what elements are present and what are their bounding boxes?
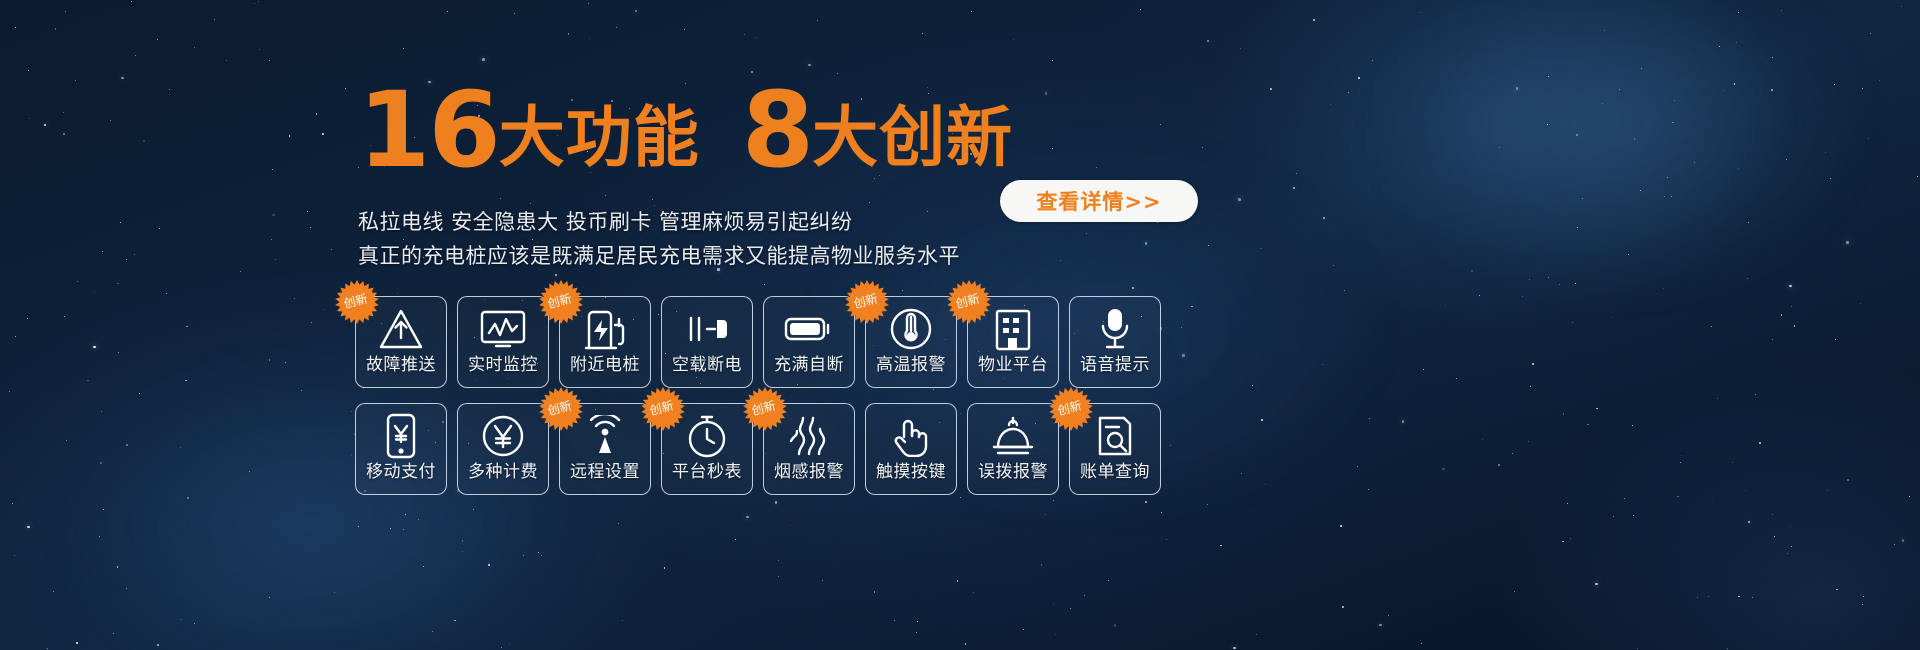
feature-tile-label: 故障推送 [366,357,436,374]
feature-tile-grid: 创新故障推送实时监控创新附近电桩空载断电充满自断创新高温报警创新物业平台语音提示… [355,296,1161,495]
feature-tile-label: 移动支付 [366,464,436,481]
yuan-coin-icon [458,408,548,464]
mobile-payment-icon [356,408,446,464]
innovation-badge: 创新 [538,279,584,325]
feature-tile[interactable]: 移动支付 [355,403,447,495]
feature-tile-label: 附近电桩 [570,357,640,374]
feature-tile[interactable]: 多种计费 [457,403,549,495]
innovation-badge: 创新 [334,279,380,325]
feature-tile-label: 误拨报警 [978,464,1048,481]
feature-tile[interactable]: 创新高温报警 [865,296,957,388]
feature-tile[interactable]: 实时监控 [457,296,549,388]
feature-tile[interactable]: 创新远程设置 [559,403,651,495]
headline-innovation-count: 8 [742,88,812,173]
feature-tile[interactable]: 充满自断 [763,296,855,388]
headline: 16 大功能 8 大创新 [358,88,1013,173]
innovation-badge: 创新 [538,386,584,432]
subtitle-block: 私拉电线 安全隐患大 投币刷卡 管理麻烦易引起纠纷 真正的充电桩应该是既满足居民… [358,205,960,273]
feature-tile[interactable]: 创新故障推送 [355,296,447,388]
feature-tile[interactable]: 误拨报警 [967,403,1059,495]
feature-tile-row-2: 移动支付多种计费创新远程设置创新平台秒表创新烟感报警触摸按键误拨报警创新账单查询 [355,403,1161,495]
feature-tile-label: 触摸按键 [876,464,946,481]
innovation-badge: 创新 [844,279,890,325]
promo-banner: 16 大功能 8 大创新 查看详情>> 私拉电线 安全隐患大 投币刷卡 管理麻烦… [0,0,1920,650]
feature-tile-label: 多种计费 [468,464,538,481]
feature-tile-label: 平台秒表 [672,464,742,481]
alarm-bell-icon [968,408,1058,464]
subtitle-line-1: 私拉电线 安全隐患大 投币刷卡 管理麻烦易引起纠纷 [358,205,960,239]
nebula-glow-right [1380,0,1860,290]
microphone-icon [1070,301,1160,357]
battery-full-icon [764,301,854,357]
innovation-badge: 创新 [640,386,686,432]
feature-tile-label: 账单查询 [1080,464,1150,481]
monitor-waveform-icon [458,301,548,357]
feature-tile[interactable]: 创新烟感报警 [763,403,855,495]
feature-tile-label: 烟感报警 [774,464,844,481]
feature-tile-label: 语音提示 [1080,357,1150,374]
feature-tile[interactable]: 创新附近电桩 [559,296,651,388]
feature-tile-label: 充满自断 [774,357,844,374]
plug-disconnect-icon [662,301,752,357]
feature-tile[interactable]: 创新账单查询 [1069,403,1161,495]
feature-tile[interactable]: 触摸按键 [865,403,957,495]
feature-tile-label: 实时监控 [468,357,538,374]
touch-hand-icon [866,408,956,464]
subtitle-line-2: 真正的充电桩应该是既满足居民充电需求又能提高物业服务水平 [358,239,960,273]
headline-function-label: 大功能 [499,107,700,174]
feature-tile[interactable]: 创新平台秒表 [661,403,753,495]
feature-tile[interactable]: 空载断电 [661,296,753,388]
feature-tile[interactable]: 创新物业平台 [967,296,1059,388]
feature-tile-label: 高温报警 [876,357,946,374]
feature-tile-label: 空载断电 [672,357,742,374]
headline-function-count: 16 [358,88,499,173]
innovation-badge: 创新 [1048,386,1094,432]
innovation-badge: 创新 [742,386,788,432]
feature-tile-label: 远程设置 [570,464,640,481]
feature-tile-label: 物业平台 [978,357,1048,374]
headline-innovation-label: 大创新 [812,107,1013,174]
view-details-button[interactable]: 查看详情>> [1000,180,1198,222]
feature-tile-row-1: 创新故障推送实时监控创新附近电桩空载断电充满自断创新高温报警创新物业平台语音提示 [355,296,1161,388]
feature-tile[interactable]: 语音提示 [1069,296,1161,388]
innovation-badge: 创新 [946,279,992,325]
